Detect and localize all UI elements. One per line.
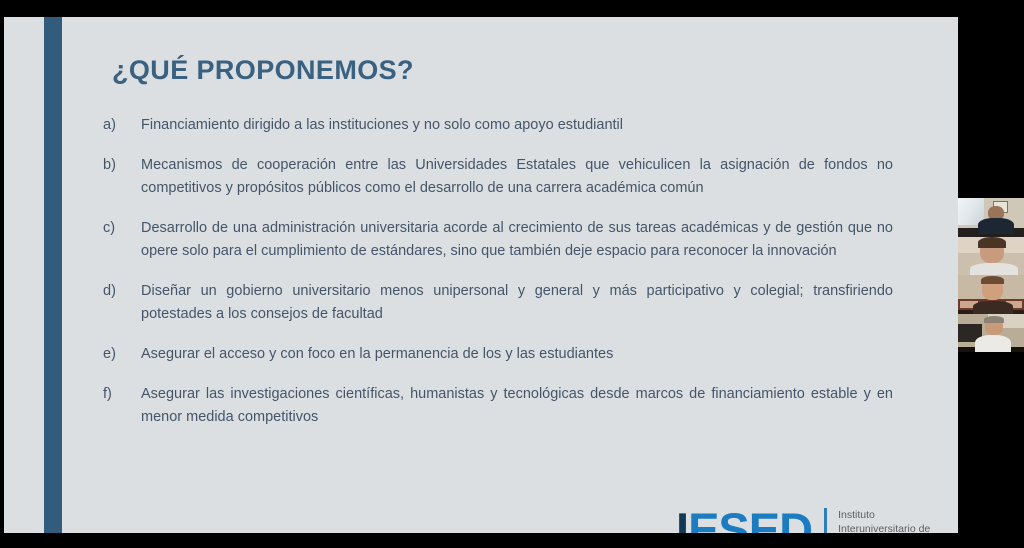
participant-torso <box>973 301 1013 314</box>
list-item-text: Financiamiento dirigido a las institucio… <box>141 114 893 137</box>
list-item-marker: b) <box>103 154 141 177</box>
tile-video-feed <box>958 275 1024 314</box>
participant-hair <box>981 276 1004 284</box>
list-item: e) Asegurar el acceso y con foco en la p… <box>103 343 893 366</box>
tile-video-feed <box>958 314 1024 353</box>
proposal-list: a) Financiamiento dirigido a las institu… <box>103 114 893 446</box>
video-call-stage: ¿QUÉ PROPONEMOS? a) Financiamiento dirig… <box>0 0 1024 548</box>
participant-torso <box>970 263 1018 276</box>
list-item: d) Diseñar un gobierno universitario men… <box>103 280 893 326</box>
slide-title: ¿QUÉ PROPONEMOS? <box>112 55 414 86</box>
participant-hair <box>984 316 1004 323</box>
list-item-marker: d) <box>103 280 141 303</box>
slide-accent-bar <box>44 17 62 533</box>
logo-divider <box>824 508 827 533</box>
participant-tile-1[interactable] <box>958 198 1024 237</box>
iesed-logo: IESED Instituto Interuniversitario de In… <box>676 506 948 533</box>
participant-tile-3[interactable] <box>958 275 1024 314</box>
list-item-marker: f) <box>103 383 141 406</box>
logo-wordmark-first: I <box>676 503 688 533</box>
list-item: c) Desarrollo de una administración univ… <box>103 217 893 263</box>
logo-subtitle-line-2: Interuniversitario de <box>838 523 948 534</box>
logo-wordmark: IESED <box>676 506 812 533</box>
list-item-marker: c) <box>103 217 141 240</box>
list-item-text: Desarrollo de una administración univers… <box>141 217 893 263</box>
tile-video-feed <box>958 237 1024 276</box>
logo-wordmark-rest: ESED <box>688 503 812 533</box>
list-item-text: Mecanismos de cooperación entre las Univ… <box>141 154 893 200</box>
list-item: b) Mecanismos de cooperación entre las U… <box>103 154 893 200</box>
list-item-text: Asegurar el acceso y con foco en la perm… <box>141 343 893 366</box>
logo-subtitle: Instituto Interuniversitario de Investig… <box>838 509 948 533</box>
list-item-marker: a) <box>103 114 141 137</box>
list-item: f) Asegurar las investigaciones científi… <box>103 383 893 429</box>
participant-hair <box>978 237 1006 248</box>
participant-video-strip <box>958 198 1024 352</box>
tile-video-feed <box>958 198 1024 237</box>
list-item-text: Asegurar las investigaciones científicas… <box>141 383 893 429</box>
participant-tile-4[interactable] <box>958 314 1024 353</box>
participant-torso <box>978 218 1014 234</box>
list-item-text: Diseñar un gobierno universitario menos … <box>141 280 893 326</box>
shared-slide: ¿QUÉ PROPONEMOS? a) Financiamiento dirig… <box>4 17 958 533</box>
logo-subtitle-line-1: Instituto <box>838 509 948 523</box>
list-item-marker: e) <box>103 343 141 366</box>
list-item: a) Financiamiento dirigido a las institu… <box>103 114 893 137</box>
participant-torso <box>975 335 1011 353</box>
participant-tile-2[interactable] <box>958 237 1024 276</box>
